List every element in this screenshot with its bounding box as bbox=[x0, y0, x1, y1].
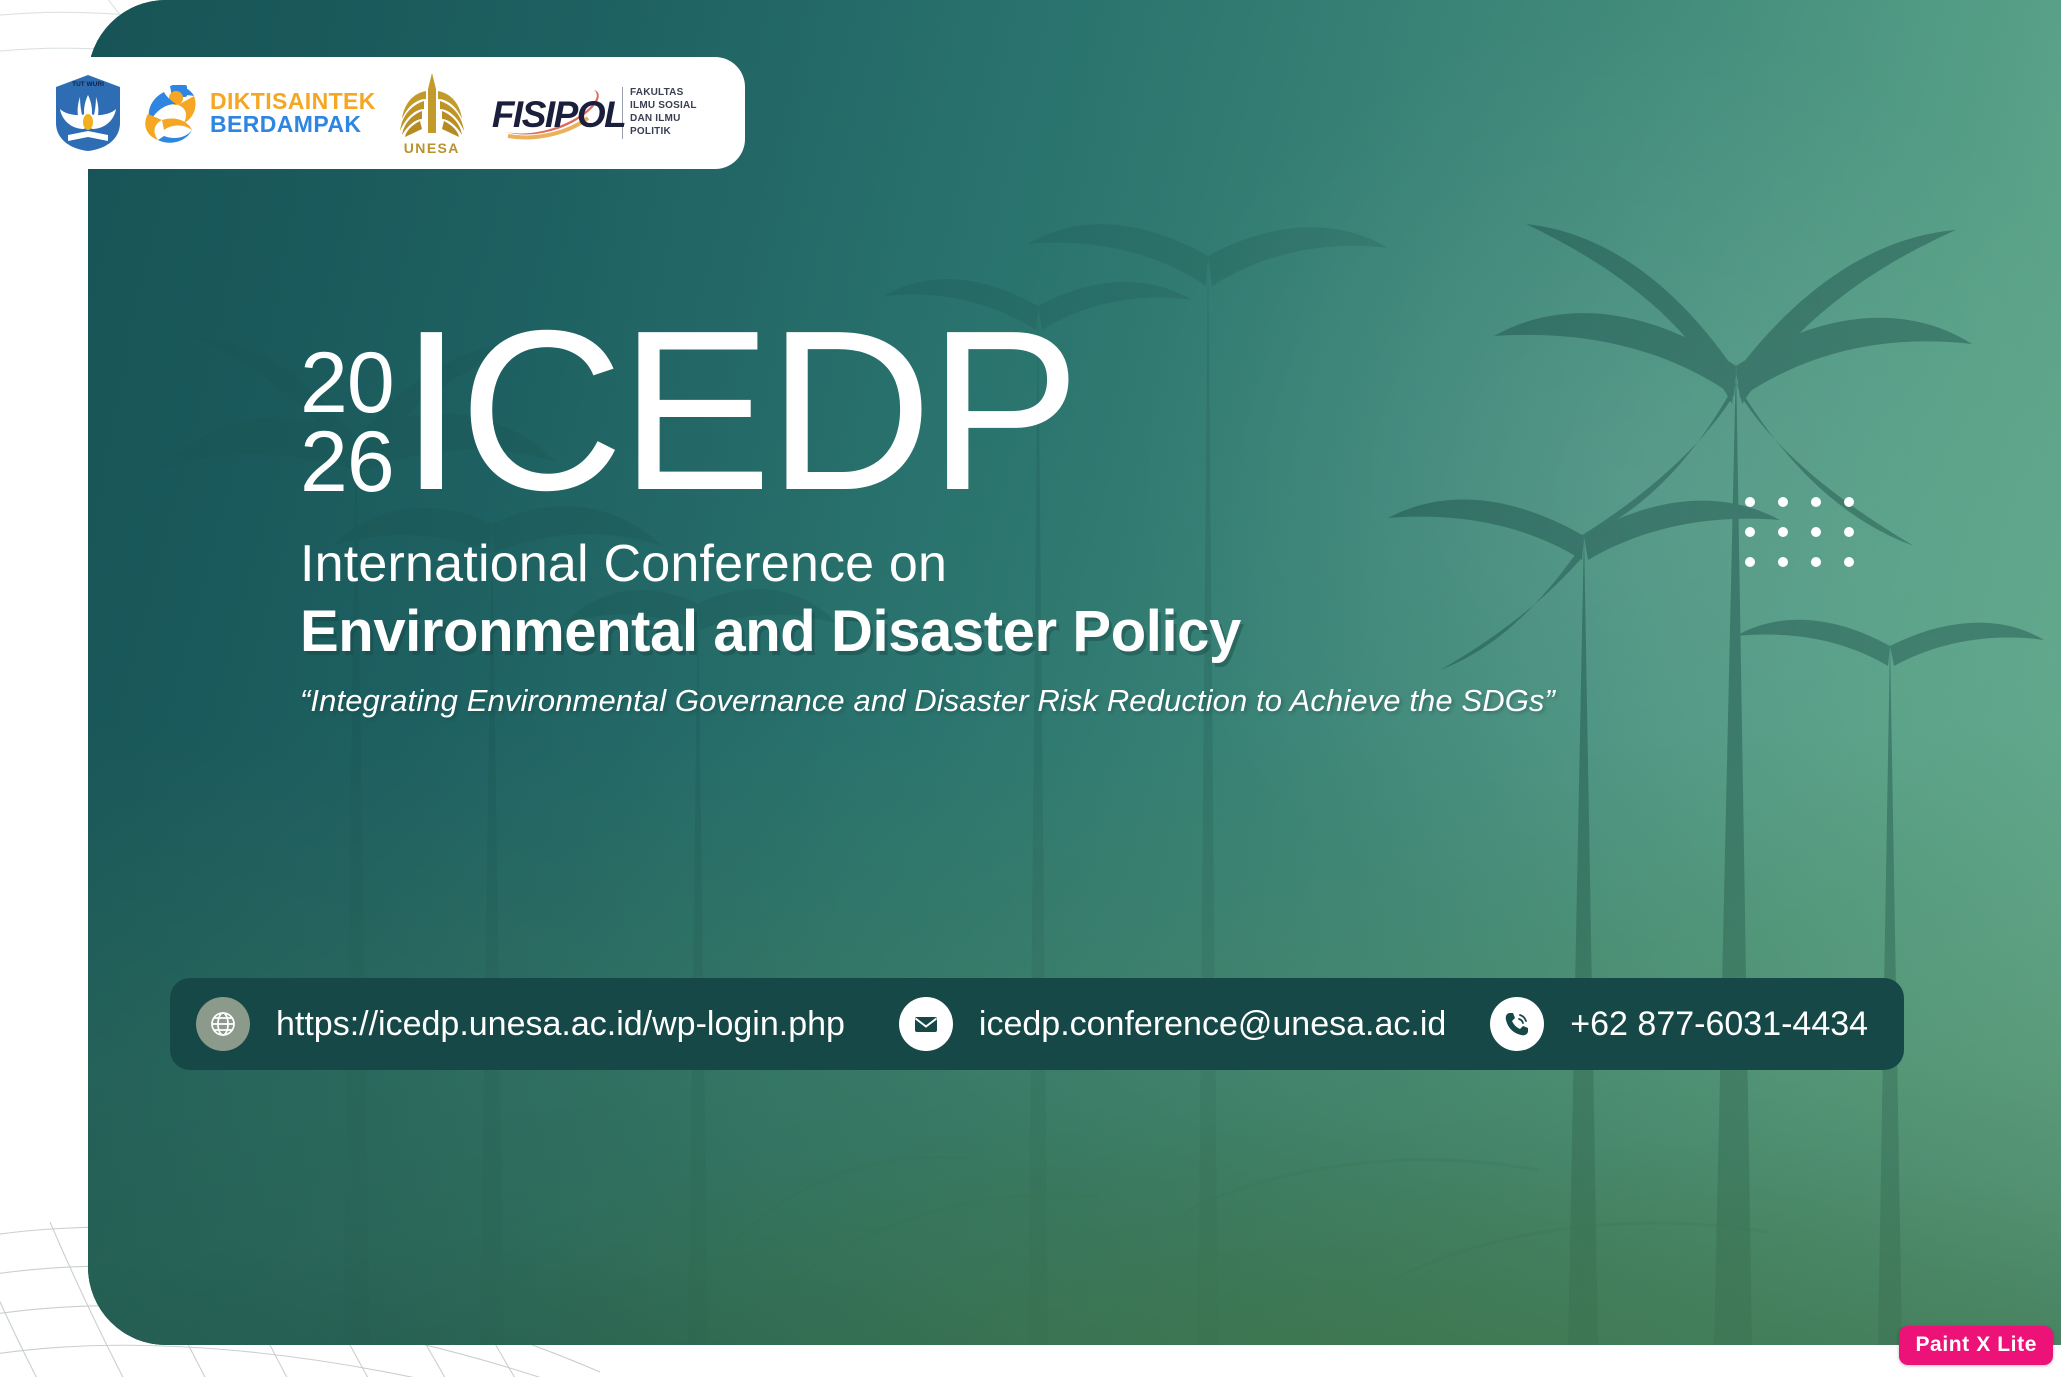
paint-x-lite-watermark: Paint X Lite bbox=[1899, 1326, 2053, 1365]
fisipol-sub-line3: DAN ILMU POLITIK bbox=[630, 113, 723, 139]
dot bbox=[1811, 497, 1821, 507]
conference-title-row: 20 26 ICEDP bbox=[300, 320, 1555, 502]
unesa-label: UNESA bbox=[404, 140, 460, 156]
year-bottom: 26 bbox=[300, 423, 394, 502]
fisipol-wordmark: FISIPOL bbox=[492, 94, 625, 136]
conference-acronym: ICEDP bbox=[400, 320, 1077, 502]
headline-block: 20 26 ICEDP International Conference on … bbox=[300, 320, 1555, 719]
fisipol-sub-line2: ILMU SOSIAL bbox=[630, 100, 723, 113]
contact-email[interactable]: icedp.conference@unesa.ac.id bbox=[899, 997, 1446, 1051]
fisipol-sub-line1: FAKULTAS bbox=[630, 87, 723, 100]
unesa-logo: UNESA bbox=[390, 71, 474, 156]
diktisaintek-line2: BERDAMPAK bbox=[210, 113, 376, 136]
dot bbox=[1778, 527, 1788, 537]
logo-bar: TUT WURI DIKTISAINTEK BERDAMPAK bbox=[0, 57, 745, 169]
diktisaintek-line1: DIKTISAINTEK bbox=[210, 90, 376, 113]
phone-icon bbox=[1490, 997, 1544, 1051]
globe-icon bbox=[196, 997, 250, 1051]
dot bbox=[1844, 557, 1854, 567]
conference-poster: TUT WURI DIKTISAINTEK BERDAMPAK bbox=[0, 0, 2061, 1377]
year-top: 20 bbox=[300, 344, 394, 423]
conference-tagline: “Integrating Environmental Governance an… bbox=[300, 683, 1555, 719]
fisipol-mark: FISIPOL bbox=[492, 86, 614, 140]
dot bbox=[1745, 557, 1755, 567]
website-url: https://icedp.unesa.ac.id/wp-login.php bbox=[276, 1005, 845, 1044]
dot bbox=[1811, 557, 1821, 567]
dot bbox=[1778, 557, 1788, 567]
diktisaintek-berdampak-logo: DIKTISAINTEK BERDAMPAK bbox=[140, 80, 376, 146]
envelope-icon bbox=[899, 997, 953, 1051]
diktisaintek-mark-icon bbox=[140, 80, 202, 146]
dot bbox=[1778, 497, 1788, 507]
tut-wuri-handayani-logo: TUT WURI bbox=[50, 73, 126, 153]
conference-subtitle-line2: Environmental and Disaster Policy bbox=[300, 598, 1555, 665]
email-address: icedp.conference@unesa.ac.id bbox=[979, 1005, 1446, 1044]
dot bbox=[1745, 527, 1755, 537]
conference-year: 20 26 bbox=[300, 320, 394, 502]
dot bbox=[1844, 497, 1854, 507]
dot bbox=[1844, 527, 1854, 537]
fisipol-logo: FISIPOL FAKULTAS ILMU SOSIAL DAN ILMU PO… bbox=[488, 86, 723, 140]
phone-number: +62 877-6031-4434 bbox=[1570, 1005, 1868, 1044]
contact-website[interactable]: https://icedp.unesa.ac.id/wp-login.php bbox=[196, 997, 845, 1051]
conference-subtitle-line1: International Conference on bbox=[300, 534, 1555, 594]
tut-wuri-handayani-icon: TUT WURI bbox=[50, 73, 126, 153]
unesa-monument-icon bbox=[390, 71, 474, 139]
dot bbox=[1745, 497, 1755, 507]
svg-text:TUT WURI: TUT WURI bbox=[72, 81, 104, 88]
dot bbox=[1811, 527, 1821, 537]
contact-phone[interactable]: +62 877-6031-4434 bbox=[1490, 997, 1868, 1051]
contact-bar: https://icedp.unesa.ac.id/wp-login.php i… bbox=[170, 978, 1904, 1070]
dots-grid-decoration bbox=[1745, 497, 1854, 567]
fisipol-subtitle: FAKULTAS ILMU SOSIAL DAN ILMU POLITIK bbox=[622, 87, 723, 138]
